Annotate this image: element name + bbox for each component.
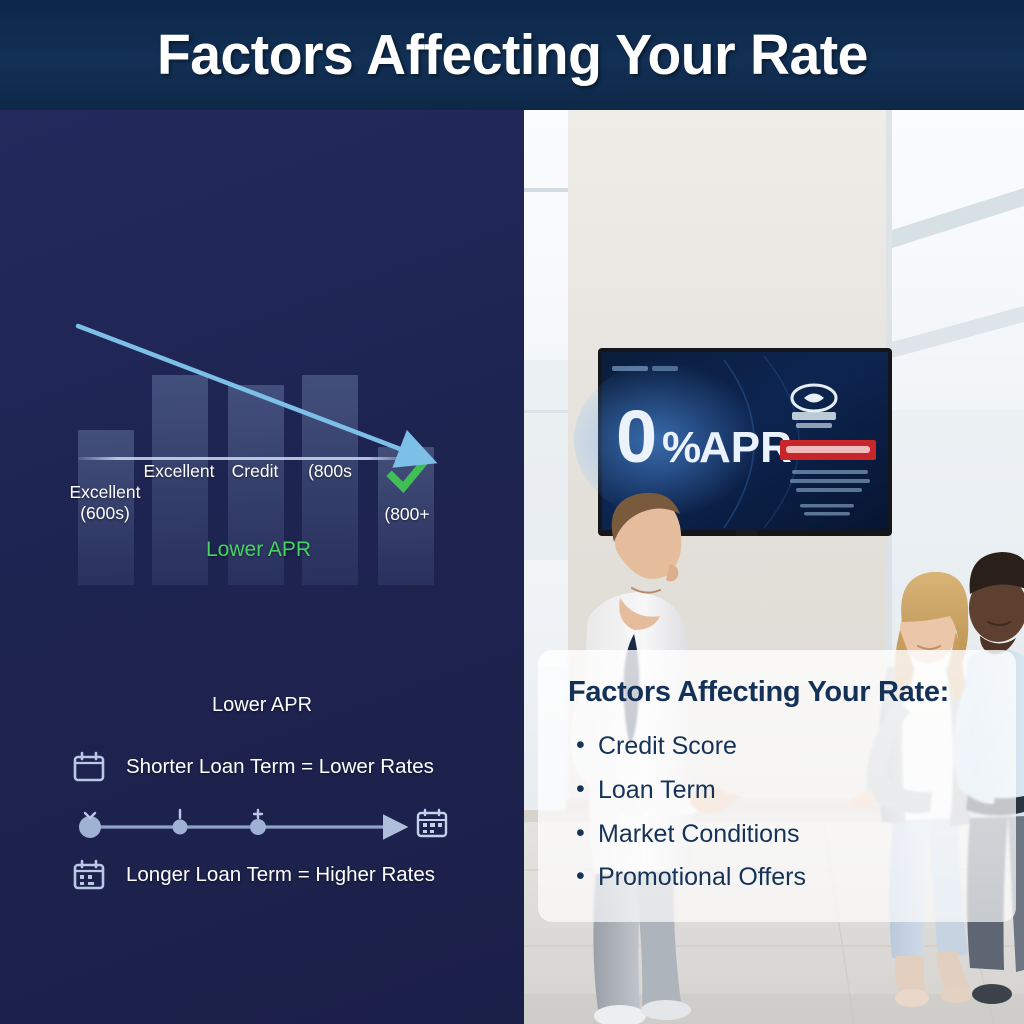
left-panel: Excellent (600s) Excellent Credit (800s … [0, 110, 524, 1024]
header-banner: Factors Affecting Your Rate [0, 0, 1024, 110]
bar-label-0-text: Excellent [69, 482, 140, 502]
list-item: Loan Term [568, 769, 986, 813]
list-item: Credit Score [568, 725, 986, 769]
loan-term-timeline[interactable] [68, 802, 468, 846]
calendar-icon [72, 750, 106, 784]
list-item: Market Conditions [568, 813, 986, 857]
svg-text:%: % [662, 423, 701, 472]
right-panel-photo: 0 % APR [524, 110, 1024, 1024]
lower-apr-trend-label: Lower APR [206, 538, 311, 562]
shorter-term-row: Shorter Loan Term = Lower Rates [72, 750, 434, 784]
calendar-grid-icon [418, 810, 446, 836]
svg-text:0: 0 [616, 395, 657, 478]
infographic-root: Factors Affecting Your Rate Excellent (6… [0, 0, 1024, 1024]
list-item: Promotional Offers [568, 856, 986, 900]
svg-text:APR: APR [699, 423, 792, 472]
factors-list: Credit Score Loan Term Market Conditions… [568, 725, 986, 900]
bar-label-0-sub: (600s) [80, 503, 130, 523]
factors-overlay-card: Factors Affecting Your Rate: Credit Scor… [538, 650, 1016, 922]
page-title: Factors Affecting Your Rate [157, 22, 868, 88]
bar-label-0: Excellent (600s) [52, 482, 158, 524]
overlay-title: Factors Affecting Your Rate: [568, 676, 986, 709]
bar-label-4-sub: (800+ [384, 504, 429, 524]
longer-term-label: Longer Loan Term = Higher Rates [126, 863, 435, 887]
timeline-marker-late [250, 819, 266, 835]
chart-axis-caption: Lower APR [0, 694, 524, 717]
calendar-grid-icon [72, 858, 106, 892]
longer-term-row: Longer Loan Term = Higher Rates [72, 858, 435, 892]
shorter-term-label: Shorter Loan Term = Lower Rates [126, 755, 434, 779]
declining-apr-arrow-icon [70, 310, 442, 470]
bar-label-4: (800+ [364, 504, 450, 525]
timeline-marker-mid [173, 820, 188, 835]
